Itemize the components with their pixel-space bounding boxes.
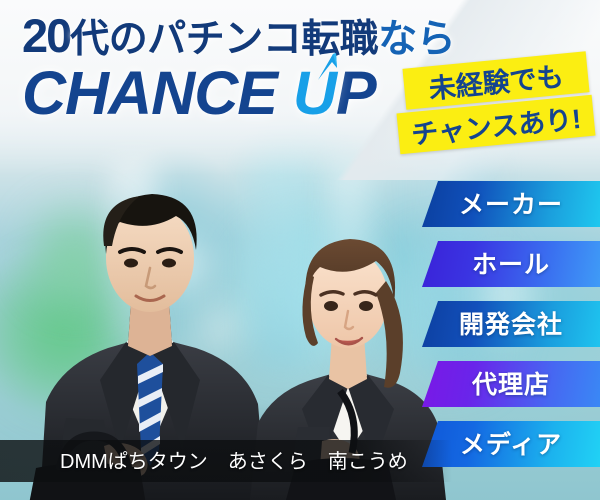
category-label-dev: 開発会社 xyxy=(459,305,563,341)
category-bar-maker[interactable]: メーカー xyxy=(422,181,600,227)
headline-number: 20 xyxy=(22,9,70,62)
category-bar-dev[interactable]: 開発会社 xyxy=(422,301,600,347)
headline-line-1-rest: 代のパチンコ転職 xyxy=(70,18,378,61)
category-label-agency: 代理店 xyxy=(472,365,550,401)
headline-block: 20代のパチンコ転職なら CHANCE UP xyxy=(22,12,452,124)
caption-credits: DMMぱちタウン あさくら 南こうめ xyxy=(60,445,408,474)
category-bar-agency[interactable]: 代理店 xyxy=(422,361,600,407)
logo-u-glyph: U xyxy=(293,59,336,127)
category-label-maker: メーカー xyxy=(459,185,563,221)
category-label-media: メディア xyxy=(460,425,562,461)
category-label-hall: ホール xyxy=(472,245,550,281)
logo-chance-text: CHANCE xyxy=(22,59,293,127)
promo-banner: 20代のパチンコ転職なら CHANCE UP 未経験でも チャンスあり! メーカ… xyxy=(0,0,600,500)
headline-line-1: 20代のパチンコ転職なら xyxy=(22,12,452,59)
logo-p-glyph: P xyxy=(336,59,376,127)
logo-u-letter: U xyxy=(293,63,336,124)
headline-line-1-tail: なら xyxy=(378,18,455,61)
category-bar-hall[interactable]: ホール xyxy=(422,241,600,287)
logo-chance-up: CHANCE UP xyxy=(22,63,452,124)
